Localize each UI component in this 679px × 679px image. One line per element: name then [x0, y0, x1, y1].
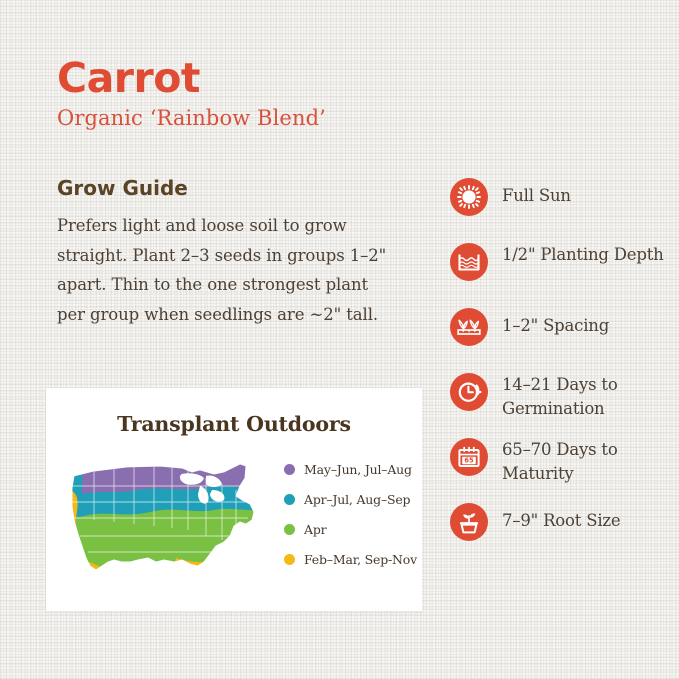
map-card-title: Transplant Outdoors [46, 412, 422, 436]
calendar-icon-day-number: 65 [464, 457, 474, 465]
legend-label: Apr [304, 522, 326, 537]
planting-depth-icon [450, 243, 488, 281]
spec-row-root-size: 7–9" Root Size [450, 503, 665, 551]
seed-packet-info-page: Carrot Organic ‘Rainbow Blend’ Grow Guid… [0, 0, 679, 679]
legend-dot-green [284, 524, 295, 535]
map-legend: May–Jun, Jul–Aug Apr–Jul, Aug–Sep Apr Fe… [284, 456, 420, 576]
grow-guide-body-text: Prefers light and loose soil to grow str… [57, 211, 387, 329]
legend-item: Apr–Jul, Aug–Sep [284, 486, 420, 512]
calendar-icon: 65 [450, 438, 488, 476]
spec-label-full-sun: Full Sun [502, 178, 571, 208]
legend-dot-purple [284, 464, 295, 475]
map-zone-northeast [234, 464, 246, 488]
spec-label-root-size: 7–9" Root Size [502, 503, 621, 533]
legend-label: Feb–Mar, Sep-Nov [304, 552, 417, 567]
header: Carrot Organic ‘Rainbow Blend’ [57, 55, 437, 132]
legend-label: May–Jun, Jul–Aug [304, 462, 412, 477]
spacing-icon [450, 308, 488, 346]
clock-icon [450, 373, 488, 411]
united-states-planting-zone-map [64, 450, 274, 592]
map-zone-bands [64, 450, 274, 592]
grow-guide-heading: Grow Guide [57, 176, 387, 201]
legend-item: Apr [284, 516, 420, 542]
potted-plant-icon [450, 503, 488, 541]
transplant-outdoors-card: Transplant Outdoors [46, 388, 422, 611]
spec-label-maturity: 65–70 Days to Maturity [502, 438, 665, 486]
legend-item: Feb–Mar, Sep-Nov [284, 546, 420, 572]
spec-row-planting-depth: 1/2" Planting Depth [450, 243, 665, 291]
spec-row-spacing: 1–2" Spacing [450, 308, 665, 356]
map-zone-feb-mar-sep-nov-gulf [88, 562, 204, 582]
grow-guide-section: Grow Guide Prefers light and loose soil … [57, 176, 387, 329]
spec-label-germination: 14–21 Days to Germination [502, 373, 665, 421]
spec-label-planting-depth: 1/2" Planting Depth [502, 243, 664, 267]
sun-icon [450, 178, 488, 216]
plant-specs-list: Full Sun 1/2" Planting Depth [450, 178, 665, 568]
spec-row-germination: 14–21 Days to Germination [450, 373, 665, 421]
legend-item: May–Jun, Jul–Aug [284, 456, 420, 482]
spec-row-maturity: 65 65–70 Days to Maturity [450, 438, 665, 486]
legend-label: Apr–Jul, Aug–Sep [304, 492, 410, 507]
legend-dot-teal [284, 494, 295, 505]
legend-dot-amber [284, 554, 295, 565]
product-subtitle: Organic ‘Rainbow Blend’ [57, 104, 437, 132]
spec-label-spacing: 1–2" Spacing [502, 308, 609, 338]
page-title: Carrot [57, 55, 437, 101]
spec-row-full-sun: Full Sun [450, 178, 665, 226]
map-body: May–Jun, Jul–Aug Apr–Jul, Aug–Sep Apr Fe… [46, 450, 422, 600]
